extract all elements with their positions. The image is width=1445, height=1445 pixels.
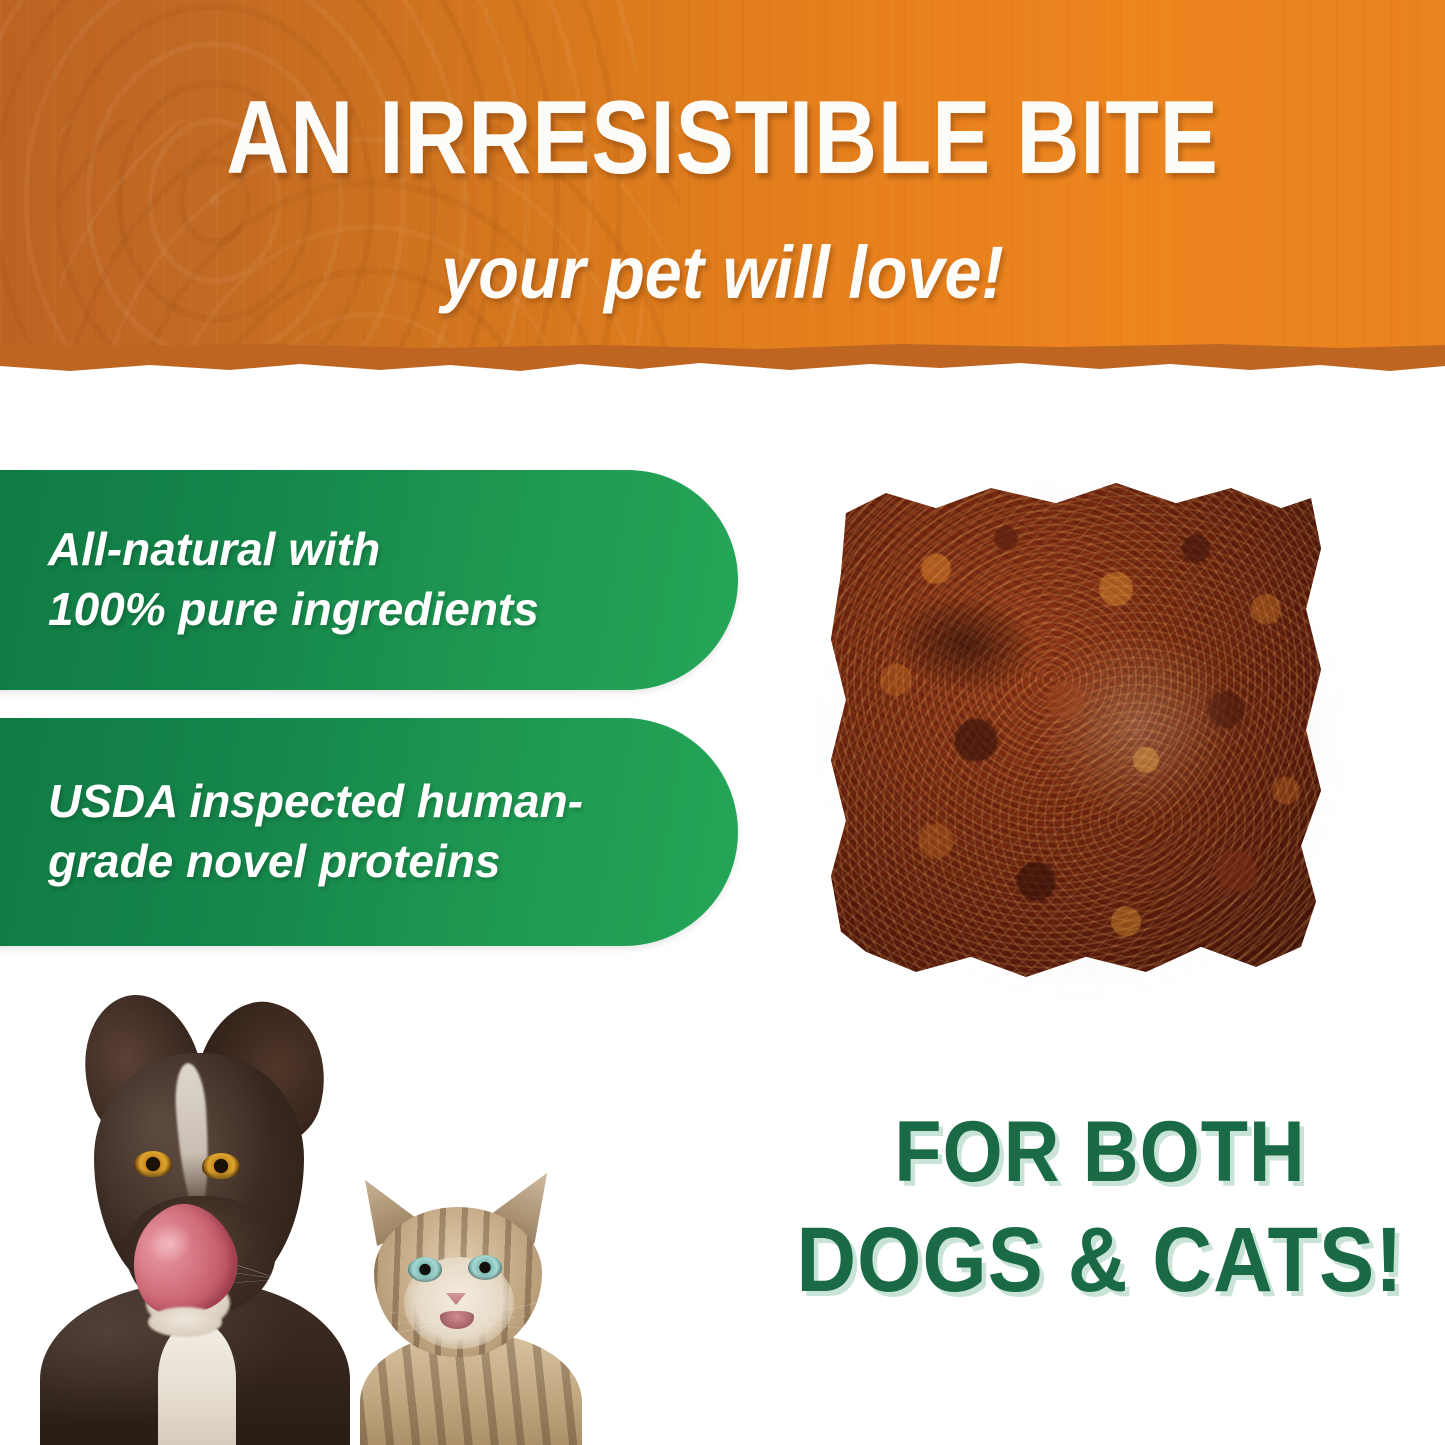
feature-badge-usda-inspected-label: USDA inspected human- grade novel protei… <box>48 772 583 892</box>
cta-headline-line-1: FOR BOTH <box>794 1108 1406 1197</box>
headline-title: AN IRRESISTIBLE BITE <box>116 86 1330 190</box>
cat-eye-right <box>468 1255 502 1280</box>
header-banner: AN IRRESISTIBLE BITE your pet will love! <box>0 0 1445 378</box>
cta-headline-line-2: DOGS & CATS! <box>794 1213 1406 1309</box>
feature-badge-all-natural: All-natural with 100% pure ingredients <box>0 470 738 690</box>
cat-icon <box>342 1165 612 1445</box>
dog-chin-marking <box>148 1307 222 1337</box>
infographic-canvas: AN IRRESISTIBLE BITE your pet will love!… <box>0 0 1445 1445</box>
feature-badge-all-natural-label: All-natural with 100% pure ingredients <box>48 520 539 640</box>
pets-photo <box>12 985 612 1445</box>
feature-badge-usda-inspected: USDA inspected human- grade novel protei… <box>0 718 738 946</box>
dog-icon <box>30 991 380 1445</box>
cat-eye-left <box>408 1257 442 1282</box>
dog-chest-marking <box>158 1321 236 1445</box>
jerky-treat-icon <box>826 478 1326 982</box>
product-treat <box>826 478 1326 982</box>
dog-eye-right <box>202 1153 240 1179</box>
product-image <box>812 462 1352 1007</box>
headline-subtitle: your pet will love! <box>72 236 1373 310</box>
dog-eye-left <box>134 1151 172 1177</box>
cta-headline: FOR BOTH DOGS & CATS! <box>760 1108 1440 1309</box>
